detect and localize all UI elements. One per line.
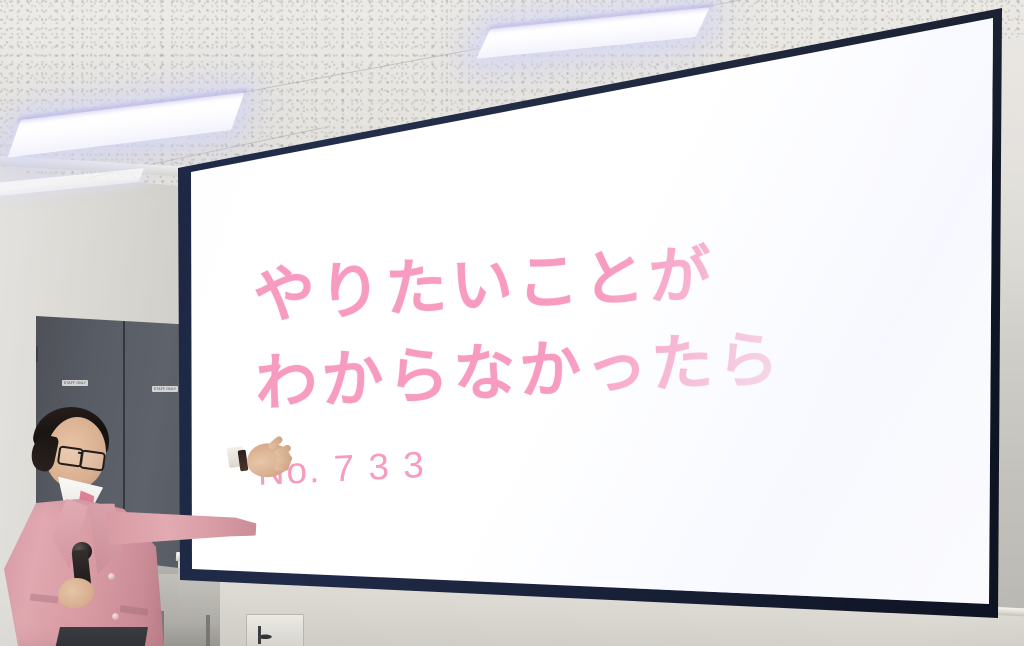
pointing-hand <box>244 439 294 481</box>
jacket-button <box>108 573 115 580</box>
presenter <box>0 395 300 646</box>
jacket-button <box>112 613 119 620</box>
slide-content: やりたいことが わからなかったら No. 7 3 3 <box>252 222 898 494</box>
trousers <box>52 627 148 646</box>
finger <box>276 454 293 464</box>
outstretched-arm <box>106 490 258 551</box>
photo-scene: STAFF ONLY STAFF ONLY やりたいことが わからなかったら N… <box>0 0 1024 646</box>
finger <box>275 464 289 471</box>
